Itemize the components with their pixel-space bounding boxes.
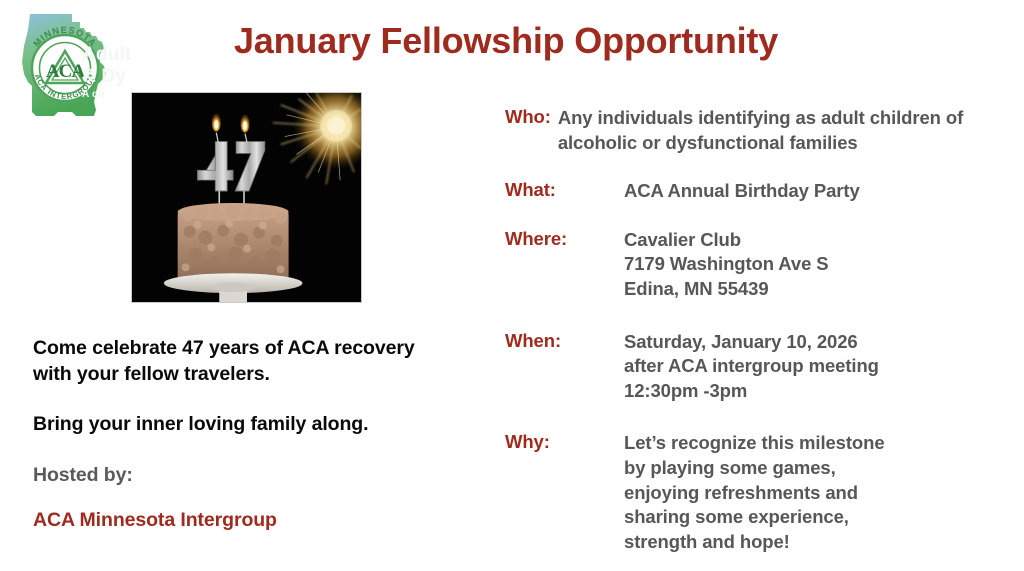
detail-row-what: What: ACA Annual Birthday Party — [505, 179, 1015, 204]
svg-text:ACA: ACA — [46, 61, 85, 82]
page-title: January Fellowship Opportunity — [196, 20, 816, 62]
detail-row-why: Why: Let’s recognize this milestone by p… — [505, 431, 1015, 554]
lead-message: Come celebrate 47 years of ACA recovery … — [33, 336, 483, 387]
detail-label-what: What: — [505, 179, 624, 201]
detail-value-where: Cavalier Club 7179 Washington Ave S Edin… — [624, 228, 1015, 302]
detail-value-when: Saturday, January 10, 2026 after ACA int… — [624, 330, 1015, 404]
detail-value-who: Any individuals identifying as adult chi… — [558, 106, 1015, 155]
detail-label-where: Where: — [505, 228, 624, 250]
detail-label-when: When: — [505, 330, 624, 352]
event-details-list: Who: Any individuals identifying as adul… — [505, 106, 1015, 554]
host-organization-name: ACA Minnesota Intergroup — [33, 509, 277, 532]
detail-value-what: ACA Annual Birthday Party — [624, 179, 1015, 204]
detail-row-when: When: Saturday, January 10, 2026 after A… — [505, 330, 1015, 404]
bring-family-message: Bring your inner loving family along. — [33, 413, 483, 436]
hosted-by-label: Hosted by: — [33, 464, 133, 487]
aca-minnesota-intergroup-logo: MINNESOTA ACA INTERGROUP ACA — [10, 6, 118, 124]
detail-label-why: Why: — [505, 431, 624, 453]
birthday-cake-photo — [131, 92, 362, 303]
detail-label-who: Who: — [505, 106, 551, 128]
detail-row-who: Who: Any individuals identifying as adul… — [505, 106, 1015, 155]
detail-row-where: Where: Cavalier Club 7179 Washington Ave… — [505, 228, 1015, 302]
detail-value-why: Let’s recognize this milestone by playin… — [624, 431, 1015, 554]
